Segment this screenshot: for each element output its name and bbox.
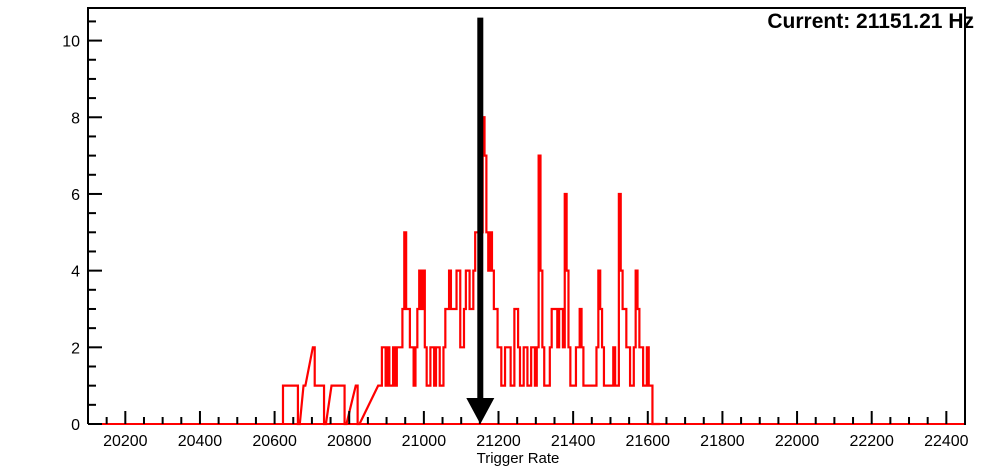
- y-tick-label: 8: [71, 110, 80, 127]
- x-tick-label: 20200: [103, 433, 148, 450]
- x-tick-label: 21200: [476, 433, 521, 450]
- x-tick-label: 20800: [327, 433, 372, 450]
- x-axis-ticks: [88, 411, 965, 424]
- trigger-rate-histogram: 2020020400206002080021000212002140021600…: [0, 0, 996, 472]
- y-tick-label: 6: [71, 187, 80, 204]
- x-tick-label: 20600: [252, 433, 297, 450]
- x-axis-title: Trigger Rate: [477, 450, 560, 467]
- current-rate-readout: Current: 21151.21 Hz: [767, 10, 974, 34]
- x-tick-label: 21600: [626, 433, 671, 450]
- y-tick-label: 4: [71, 264, 80, 281]
- y-tick-label: 10: [62, 34, 80, 51]
- x-tick-label: 21000: [402, 433, 447, 450]
- current-rate-marker: [466, 18, 494, 424]
- x-tick-label: 21400: [551, 433, 596, 450]
- y-axis-tick-labels: 0246810: [62, 34, 80, 434]
- y-tick-label: 0: [71, 417, 80, 434]
- x-tick-label: 20400: [178, 433, 223, 450]
- x-axis-tick-labels: 2020020400206002080021000212002140021600…: [103, 433, 969, 450]
- x-tick-label: 22400: [924, 433, 969, 450]
- x-tick-label: 22200: [849, 433, 894, 450]
- y-tick-label: 2: [71, 340, 80, 357]
- x-tick-label: 21800: [700, 433, 745, 450]
- y-axis-ticks: [88, 21, 102, 424]
- histogram-series: [89, 117, 964, 424]
- histogram-canvas: 2020020400206002080021000212002140021600…: [0, 0, 996, 472]
- x-tick-label: 22000: [775, 433, 820, 450]
- histogram-outline: [283, 117, 660, 424]
